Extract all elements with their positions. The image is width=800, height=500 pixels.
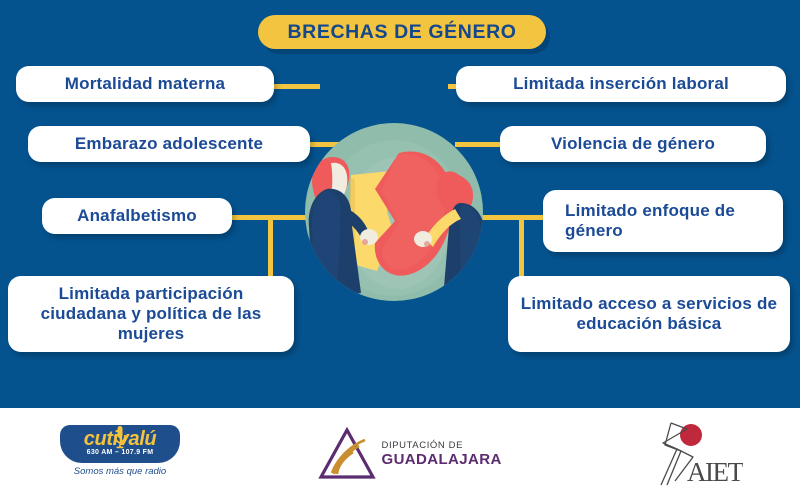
two-women-holding-broken-heart-icon: [303, 123, 485, 303]
label-enfoque-genero[interactable]: Limitado enfoque de género: [543, 190, 783, 252]
diputacion-triangle-mark-icon: [318, 427, 376, 481]
microphone-icon: [113, 425, 127, 451]
aieti-wordmark: AIETI: [687, 457, 743, 487]
label-acceso-educacion-text: Limitado acceso a servicios de educación…: [520, 294, 778, 333]
infographic-poster: BRECHAS DE GÉNERO Mortalidad materna Emb…: [0, 0, 800, 500]
label-insercion-laboral[interactable]: Limitada inserción laboral: [456, 66, 786, 102]
label-enfoque-genero-text: Limitado enfoque de género: [565, 201, 771, 240]
label-anafalbetismo-text: Anafalbetismo: [54, 206, 220, 226]
label-participacion-ciudadana-text: Limitada participación ciudadana y polít…: [20, 284, 282, 343]
label-violencia-genero-text: Violencia de género: [512, 134, 754, 154]
label-acceso-educacion[interactable]: Limitado acceso a servicios de educación…: [508, 276, 790, 352]
page-title-text: BRECHAS DE GÉNERO: [287, 21, 516, 44]
connector-acceso-educacion-vertical: [519, 215, 524, 283]
logo-cutivalu: cutivalú 630 AM – 107.9 FM Somos más que…: [30, 408, 210, 500]
label-insercion-laboral-text: Limitada inserción laboral: [468, 74, 774, 94]
label-embarazo-adolescente[interactable]: Embarazo adolescente: [28, 126, 310, 162]
label-violencia-genero[interactable]: Violencia de género: [500, 126, 766, 162]
logo-diputacion-guadalajara: DIPUTACIÓN DE GUADALAJARA: [315, 408, 505, 500]
connector-mortalidad-materna: [268, 84, 320, 89]
center-illustration: [303, 123, 485, 303]
label-mortalidad-materna-text: Mortalidad materna: [28, 74, 262, 94]
cutivalu-frequency: 630 AM – 107.9 FM: [60, 449, 180, 456]
label-mortalidad-materna[interactable]: Mortalidad materna: [16, 66, 274, 102]
label-participacion-ciudadana[interactable]: Limitada participación ciudadana y polít…: [8, 276, 294, 352]
page-title: BRECHAS DE GÉNERO: [258, 15, 546, 49]
diputacion-line1: DIPUTACIÓN DE: [382, 440, 502, 451]
aieti-mark-icon: AIETI: [647, 419, 743, 489]
diputacion-line2: GUADALAJARA: [382, 451, 502, 468]
label-embarazo-adolescente-text: Embarazo adolescente: [40, 134, 298, 154]
label-anafalbetismo[interactable]: Anafalbetismo: [42, 198, 232, 234]
cutivalu-tagline: Somos más que radio: [50, 466, 190, 477]
connector-participacion-vertical: [268, 215, 273, 283]
footer-logo-bar: cutivalú 630 AM – 107.9 FM Somos más que…: [0, 408, 800, 500]
logo-aieti: AIETI: [640, 408, 750, 500]
